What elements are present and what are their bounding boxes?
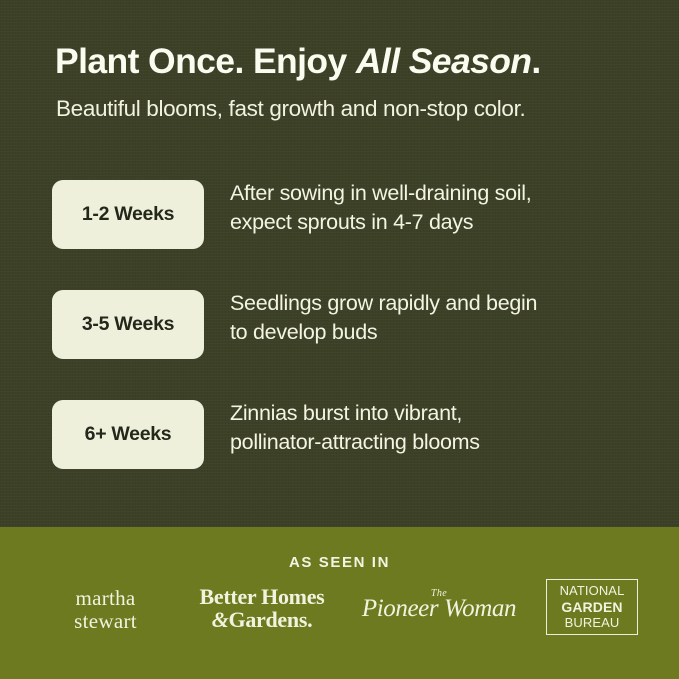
timeline-badge-6-plus-weeks: 6+ Weeks [52,400,204,469]
martha-stewart-logo: martha stewart [34,587,177,632]
timeline-badge-1-2-weeks: 1-2 Weeks [52,180,204,249]
page-subtitle: Beautiful blooms, fast growth and non-st… [56,96,666,122]
badge-label: 6+ Weeks [85,423,172,446]
logo-line: Better Homes [182,585,342,608]
as-seen-in-title: AS SEEN IN [0,554,679,571]
better-homes-and-gardens-logo: Better Homes &Gardens. [182,585,342,632]
logo-line: NATIONAL [560,583,625,598]
logo-line: Pioneer Woman [358,596,520,621]
press-logo-list: martha stewart Better Homes &Gardens. Th… [0,585,679,665]
headline-part2: . [531,41,540,81]
logo-line-text: Gardens. [229,607,313,632]
badge-label: 3-5 Weeks [82,313,174,336]
national-garden-bureau-logo: NATIONAL GARDEN BUREAU [546,579,638,635]
logo-line: stewart [34,610,177,633]
description-line: pollinator-attracting blooms [230,428,650,457]
description-line: to develop buds [230,318,650,347]
headline-emphasis: All Season [356,41,532,81]
logo-line: BUREAU [565,615,620,630]
ampersand: & [212,607,229,632]
timeline-badge-3-5-weeks: 3-5 Weeks [52,290,204,359]
description-line: Zinnias burst into vibrant, [230,399,650,428]
timeline-row: 6+ Weeks Zinnias burst into vibrant, pol… [52,400,652,510]
logo-line: &Gardens. [182,608,342,631]
description-line: Seedlings grow rapidly and begin [230,289,650,318]
the-pioneer-woman-logo: The Pioneer Woman [358,589,520,621]
timeline-description-3: Zinnias burst into vibrant, pollinator-a… [230,399,650,457]
timeline-description-2: Seedlings grow rapidly and begin to deve… [230,289,650,347]
promo-graphic: Plant Once. Enjoy All Season. Beautiful … [0,0,679,679]
as-seen-in-band: AS SEEN IN martha stewart Better Homes &… [0,527,679,679]
timeline-row: 3-5 Weeks Seedlings grow rapidly and beg… [52,290,652,400]
badge-label: 1-2 Weeks [82,203,174,226]
logo-line: GARDEN [561,599,622,616]
page-title: Plant Once. Enjoy All Season. [55,42,655,80]
headline-part1: Plant Once. Enjoy [55,41,356,81]
description-line: expect sprouts in 4-7 days [230,208,650,237]
description-line: After sowing in well-draining soil, [230,179,650,208]
logo-line: martha [34,587,177,610]
timeline-row: 1-2 Weeks After sowing in well-draining … [52,180,652,290]
growth-timeline: 1-2 Weeks After sowing in well-draining … [52,180,652,510]
timeline-description-1: After sowing in well-draining soil, expe… [230,179,650,237]
